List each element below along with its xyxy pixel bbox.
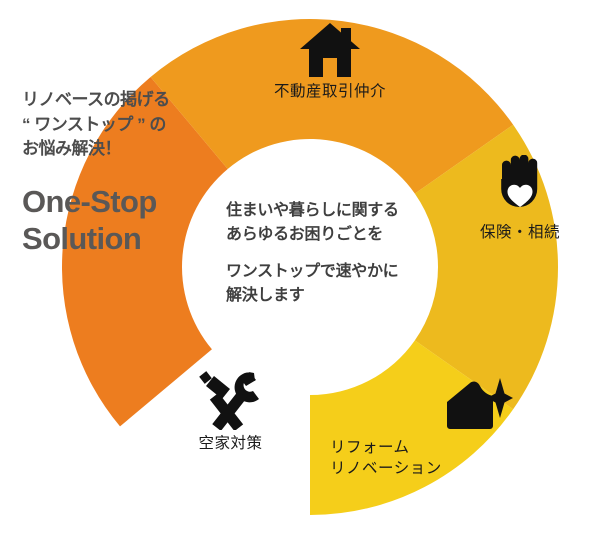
headline-block: リノベースの掲げる “ ワンストップ ” の お悩み解決！ One-Stop S…: [22, 88, 222, 257]
segment-label-text-reform-1: リフォーム: [330, 439, 410, 456]
center-copy-line-3: ワンストップで速やかに: [226, 260, 436, 284]
lead-line-1: リノベースの掲げる: [22, 88, 222, 113]
center-copy-spacer: [226, 248, 436, 260]
segment-label-vacant-house[interactable]: 空家対策: [148, 368, 313, 455]
center-copy-line-2: あらゆるお困りごとを: [226, 223, 436, 247]
house-icon: [299, 22, 361, 78]
segment-label-text-vacant-house: 空家対策: [198, 435, 262, 452]
segment-label-insurance[interactable]: 保険・相続: [455, 155, 585, 244]
segment-label-reform[interactable]: リフォーム リノベーション: [330, 376, 510, 480]
page-title: One-Stop Solution: [22, 184, 222, 257]
title-line-2: Solution: [22, 221, 222, 258]
hand-heart-icon: [493, 155, 547, 219]
title-line-1: One-Stop: [22, 184, 222, 221]
one-stop-solution-infographic: リノベースの掲げる “ ワンストップ ” の お悩み解決！ One-Stop S…: [0, 0, 600, 533]
house-sparkle-icon: [440, 376, 514, 434]
center-copy-line-1: 住まいや暮らしに関する: [226, 199, 436, 223]
segment-label-real-estate[interactable]: 不動産取引仲介: [240, 22, 420, 103]
center-copy-line-4: 解決します: [226, 284, 436, 308]
segment-label-text-real-estate: 不動産取引仲介: [274, 83, 386, 100]
lead-line-2: “ ワンストップ ” の: [22, 113, 222, 138]
lead-line-3: お悩み解決！: [22, 137, 222, 162]
segment-label-text-reform-2: リノベーション: [330, 460, 442, 477]
hammer-wrench-icon: [196, 368, 266, 430]
segment-label-text-insurance: 保険・相続: [480, 224, 560, 241]
center-copy: 住まいや暮らしに関する あらゆるお困りごとを ワンストップで速やかに 解決します: [226, 199, 436, 308]
